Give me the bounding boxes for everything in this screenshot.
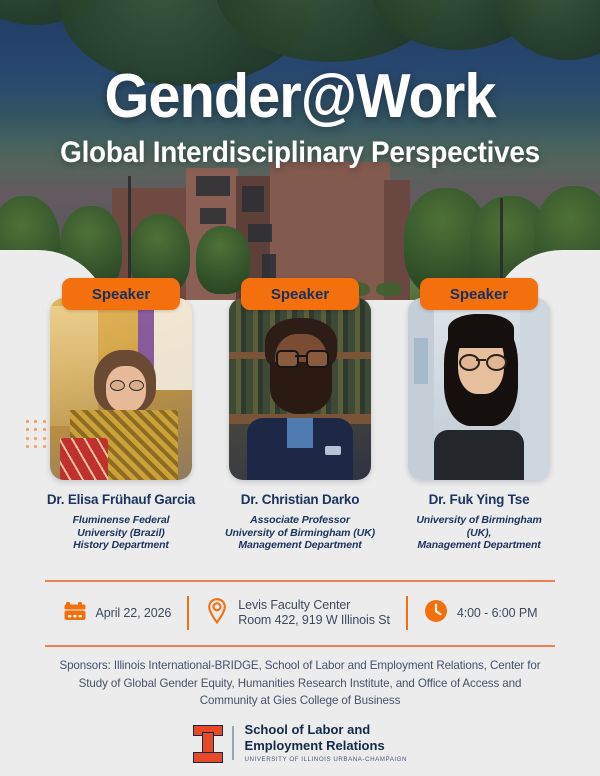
event-time-text: 4:00 - 6:00 PM — [457, 606, 538, 621]
avatar — [50, 298, 192, 480]
clock-icon — [424, 599, 448, 628]
event-divider — [406, 596, 408, 630]
divider-bottom — [45, 645, 555, 647]
calendar-icon — [63, 599, 87, 628]
event-date-text: April 22, 2026 — [96, 606, 172, 621]
speaker-card: Speaker Dr. Elisa Frühauf Garcia Flumine… — [45, 278, 197, 552]
speaker-affiliation: University of Birmingham (UK), Managemen… — [403, 514, 555, 552]
divider-top — [45, 580, 555, 582]
speakers-row: Speaker Dr. Elisa Frühauf Garcia Flumine… — [0, 278, 600, 552]
speaker-affiliation: Associate Professor University of Birmin… — [224, 514, 376, 552]
avatar — [229, 298, 371, 480]
footer-unit-name: School of Labor and Employment Relations — [245, 722, 408, 753]
speaker-name: Dr. Fuk Ying Tse — [403, 492, 555, 507]
event-date: April 22, 2026 — [63, 599, 172, 628]
event-time: 4:00 - 6:00 PM — [424, 599, 538, 628]
event-location-text: Levis Faculty Center Room 422, 919 W Ill… — [238, 598, 390, 628]
tree-canopy-icon — [498, 0, 600, 60]
poster-title-block: Gender@Work Global Interdisciplinary Per… — [0, 64, 600, 170]
speaker-name: Dr. Christian Darko — [224, 492, 376, 507]
speaker-card: Speaker Dr. Christian Darko Associate Pr… — [224, 278, 376, 552]
avatar — [408, 298, 550, 480]
speaker-badge: Speaker — [62, 278, 180, 310]
event-divider — [187, 596, 189, 630]
footer-unit: School of Labor and Employment Relations… — [245, 722, 408, 763]
sponsors-text: Sponsors: Illinois International-BRIDGE,… — [50, 657, 550, 710]
map-pin-icon — [205, 597, 229, 630]
event-location: Levis Faculty Center Room 422, 919 W Ill… — [205, 597, 390, 630]
speaker-affiliation: Fluminense Federal University (Brazil) H… — [45, 514, 197, 552]
building-window — [196, 176, 230, 196]
footer-logo-block: School of Labor and Employment Relations… — [0, 722, 600, 763]
speaker-badge: Speaker — [241, 278, 359, 310]
speaker-badge: Speaker — [420, 278, 538, 310]
logo-divider — [232, 726, 234, 760]
speaker-card: Speaker Dr. Fuk Ying Tse University of B… — [403, 278, 555, 552]
building-window — [248, 224, 272, 242]
footer-university-name: UNIVERSITY OF ILLINOIS URBANA-CHAMPAIGN — [245, 756, 408, 763]
event-poster: Gender@Work Global Interdisciplinary Per… — [0, 0, 600, 776]
page-subtitle: Global Interdisciplinary Perspectives — [21, 136, 579, 170]
event-location-line2: Room 422, 919 W Illinois St — [238, 613, 390, 628]
illinois-block-i-logo-icon — [193, 725, 221, 761]
event-details-bar: April 22, 2026 Levis Faculty Center Room… — [0, 589, 600, 637]
building-window — [200, 208, 226, 224]
event-location-line1: Levis Faculty Center — [238, 598, 390, 613]
page-title: Gender@Work — [21, 64, 579, 130]
speaker-name: Dr. Elisa Frühauf Garcia — [45, 492, 197, 507]
building-window — [242, 186, 264, 212]
